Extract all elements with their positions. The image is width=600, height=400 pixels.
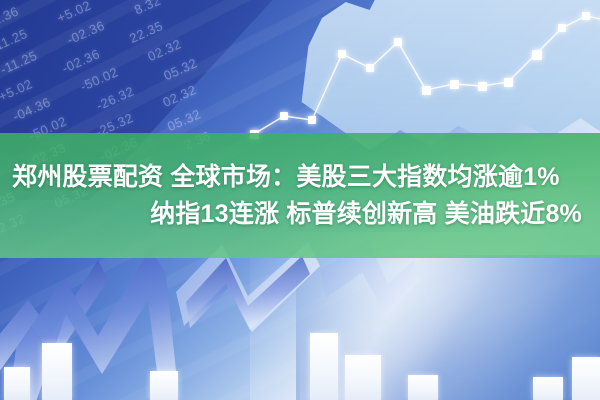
headline-line-2: 纳指13连涨 标普续创新高 美油跌近8% bbox=[8, 199, 592, 230]
ticker-value: 8.32 bbox=[132, 0, 163, 17]
ticker-value: 05.32 bbox=[165, 106, 203, 134]
chart-nodes bbox=[250, 12, 600, 139]
ticker-value: 02.32 bbox=[145, 36, 183, 64]
bar-column bbox=[150, 371, 178, 400]
bar-column bbox=[345, 355, 381, 400]
bar-column bbox=[4, 367, 30, 400]
ticker-value: +5.02 bbox=[55, 0, 93, 26]
ticker-value: 05.32 bbox=[161, 55, 199, 83]
bar-column bbox=[533, 377, 563, 400]
headline-line-1: 郑州股票配资 全球市场：美股三大指数均涨逾1% bbox=[8, 162, 592, 193]
ticker-value: 02.32 bbox=[160, 82, 198, 110]
bar-column bbox=[42, 343, 72, 400]
bar-column bbox=[310, 333, 338, 400]
chart-polyline bbox=[254, 16, 600, 134]
ticker-value: 22.35 bbox=[127, 18, 165, 46]
bar-column bbox=[408, 375, 438, 400]
bar-chart-columns bbox=[0, 255, 600, 400]
ticker-value: +5.02 bbox=[0, 76, 35, 104]
bar-column bbox=[572, 357, 600, 400]
headline-block: 郑州股票配资 全球市场：美股三大指数均涨逾1% 纳指13连涨 标普续创新高 美油… bbox=[0, 133, 600, 258]
news-banner-image: -04.36 -50.02 -26.32 21.02 -02.35 -02.36… bbox=[0, 0, 600, 400]
